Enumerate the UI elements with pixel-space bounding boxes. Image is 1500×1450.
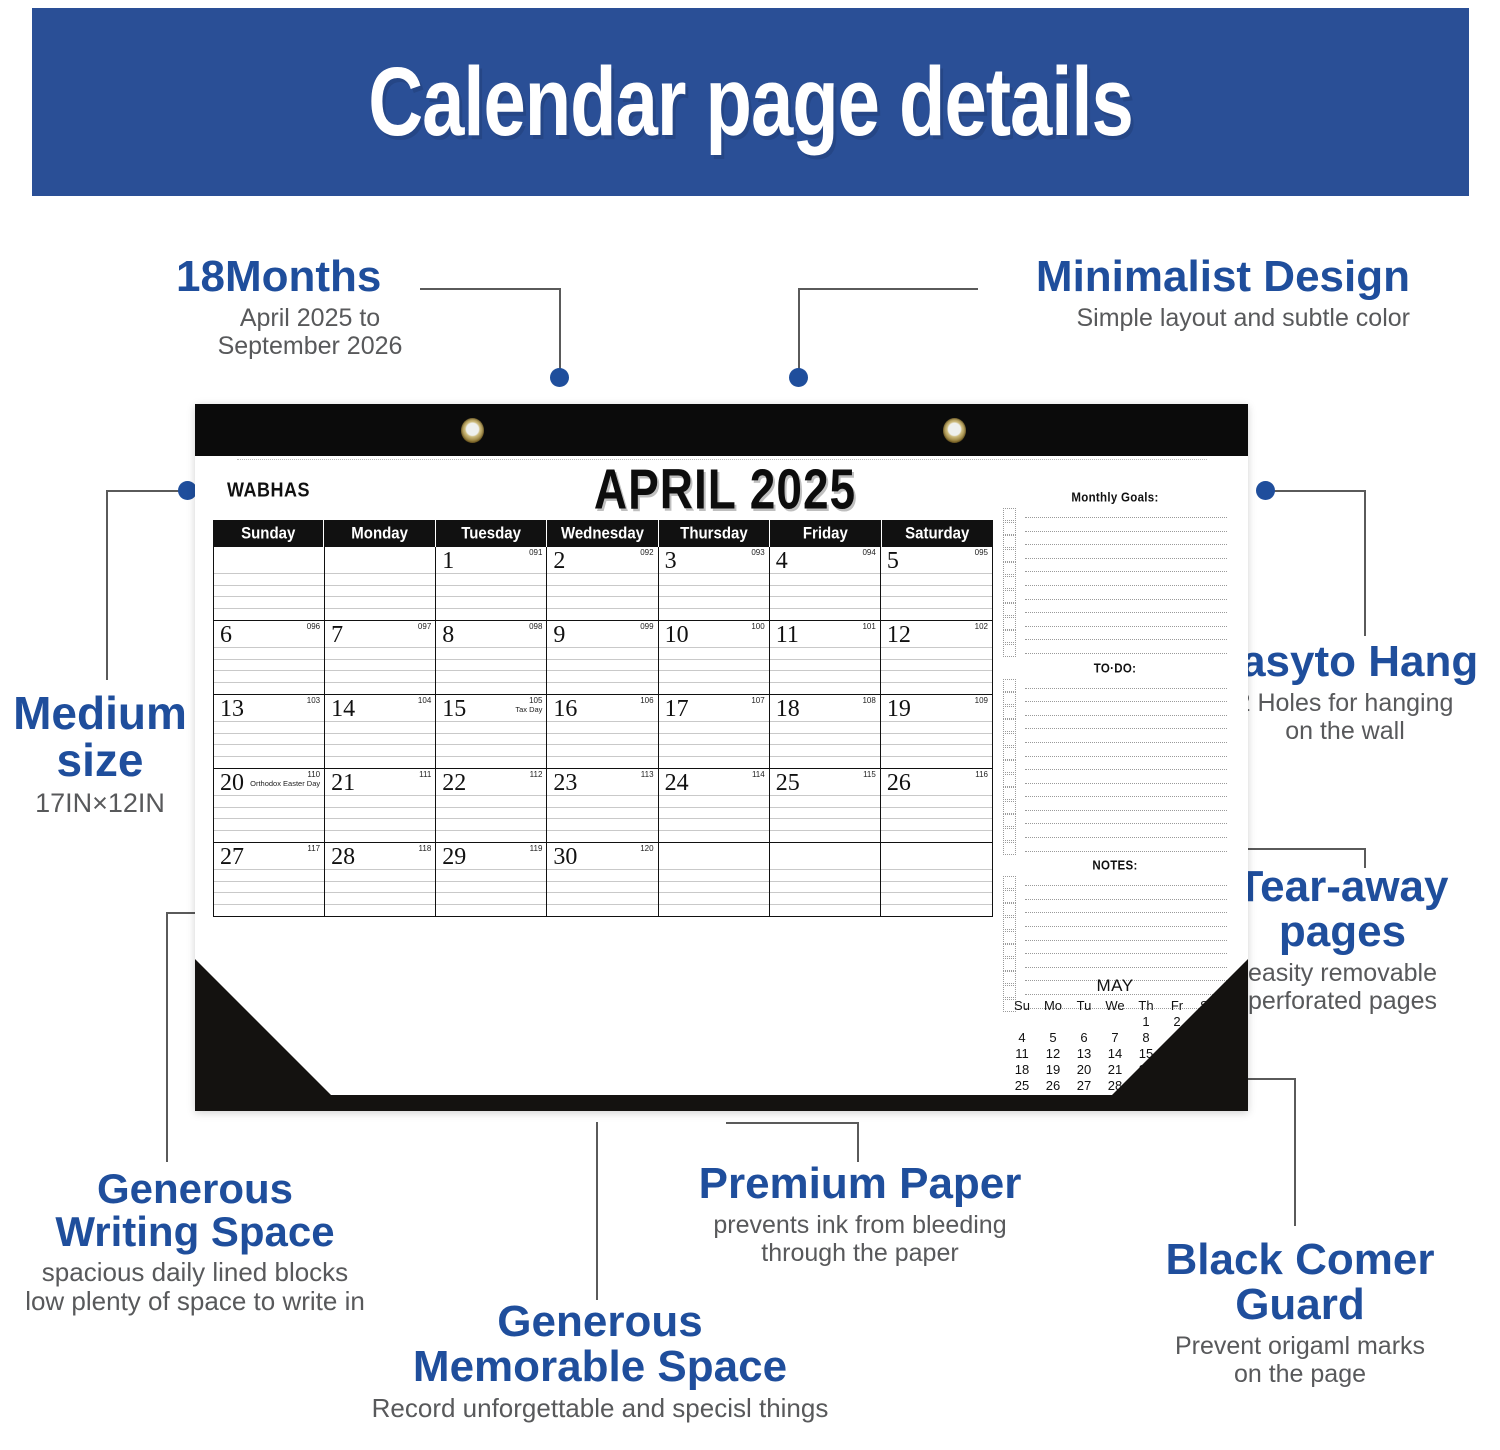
hanging-hole-icon [943, 418, 966, 443]
write-line[interactable] [999, 930, 1231, 944]
julian-day-number: 113 [641, 771, 654, 779]
calendar-week-row: 20110Orthodox Easter Day2111122112231132… [214, 769, 992, 843]
calendar-day-cell[interactable]: 22112 [436, 769, 547, 842]
mini-day-cell: 27 [1069, 1077, 1100, 1093]
writing-rules [325, 869, 435, 916]
calendar-day-cell[interactable]: 5095 [881, 547, 992, 620]
julian-day-number: 119 [530, 845, 543, 853]
julian-day-number: 105 [529, 697, 542, 705]
day-number: 2 [553, 549, 565, 573]
writing-rules [659, 721, 769, 768]
calendar-sheet: WABHAS APRIL 2025 Sunday Monday Tuesday … [195, 404, 1248, 1111]
julian-day-number: 104 [418, 697, 431, 705]
writing-rules [325, 573, 435, 620]
writing-rules [325, 721, 435, 768]
write-line[interactable] [999, 902, 1231, 916]
writing-rules [881, 795, 992, 842]
calendar-week-row: 6096709780989099101001110112102 [214, 621, 992, 695]
calendar-day-cell[interactable] [881, 843, 992, 916]
day-number: 21 [331, 771, 355, 795]
leader-line-premium-h [726, 1122, 858, 1124]
calendar-day-cell[interactable]: 4094 [770, 547, 881, 620]
writing-rules [547, 721, 657, 768]
julian-day-number: 108 [862, 697, 875, 705]
day-event-label: Orthodox Easter Day [250, 780, 320, 788]
mini-day-cell: 18 [1007, 1061, 1038, 1077]
day-number: 12 [887, 623, 911, 647]
writing-rules [214, 795, 324, 842]
write-line[interactable] [999, 841, 1231, 855]
julian-day-number: 112 [530, 771, 543, 779]
calendar-day-cell[interactable]: 23113 [547, 769, 658, 842]
writing-rules [770, 795, 880, 842]
monthly-goals-lines[interactable] [999, 507, 1231, 657]
corner-guard-left-icon [195, 959, 347, 1111]
write-line[interactable] [999, 916, 1231, 930]
calendar-day-cell[interactable]: 11101 [770, 621, 881, 694]
day-number: 9 [553, 623, 565, 647]
julian-day-number: 106 [640, 697, 653, 705]
julian-day-number: 099 [640, 623, 653, 631]
calendar-day-cell[interactable]: 6096 [214, 621, 325, 694]
monthly-goals-label: Monthly Goals: [999, 491, 1231, 504]
calendar-day-cell[interactable]: 29119 [436, 843, 547, 916]
calendar-day-cell[interactable]: 28118 [325, 843, 436, 916]
leader-line-months-h [420, 288, 560, 290]
weekday-header-cell: Wednesday [547, 519, 658, 549]
callout-title: Medium size [0, 690, 200, 784]
day-number: 5 [887, 549, 899, 573]
write-line[interactable] [999, 705, 1231, 719]
mini-weekday-cell: Mo [1038, 997, 1069, 1013]
day-number: 17 [665, 697, 689, 721]
julian-day-number: 096 [307, 623, 320, 631]
calendar-top-binding-bar [195, 404, 1248, 456]
write-line[interactable] [999, 800, 1231, 814]
day-number: 29 [442, 845, 466, 869]
page-title: Calendar page details [368, 46, 1133, 157]
calendar-day-cell[interactable]: 1091 [436, 547, 547, 620]
mini-day-cell: 25 [1007, 1077, 1038, 1093]
calendar-day-cell[interactable]: 30120 [547, 843, 658, 916]
write-line[interactable] [999, 773, 1231, 787]
leader-line-medium-v [106, 490, 108, 680]
writing-rules [325, 795, 435, 842]
weekday-header-cell: Friday [770, 519, 881, 549]
calendar-day-cell[interactable]: 2092 [547, 547, 658, 620]
mini-weekday-cell: Su [1007, 997, 1038, 1013]
mini-day-cell: 20 [1069, 1061, 1100, 1077]
callout-generous-memorable-space: Generous Memorable Space Record unforget… [300, 1300, 900, 1423]
writing-rules [770, 869, 880, 916]
writing-rules [547, 573, 657, 620]
writing-rules [547, 795, 657, 842]
day-number: 20 [220, 771, 244, 795]
writing-rules [214, 721, 324, 768]
julian-day-number: 101 [862, 623, 875, 631]
julian-day-number: 116 [975, 771, 988, 779]
writing-rules [214, 573, 324, 620]
callout-medium-size: Medium size 17IN×12IN [0, 690, 200, 819]
day-number: 15 [442, 697, 466, 721]
mini-day-cell [1038, 1013, 1069, 1029]
callout-title: Generous Writing Space [0, 1168, 394, 1254]
calendar-day-cell[interactable]: 26116 [881, 769, 992, 842]
leader-line-hang-v [1364, 490, 1366, 636]
day-number: 24 [665, 771, 689, 795]
weekday-header-cell: Saturday [882, 519, 993, 549]
julian-day-number: 120 [640, 845, 653, 853]
day-number: 11 [776, 623, 799, 647]
writing-rules [770, 573, 880, 620]
leader-dot-months [550, 368, 569, 387]
write-line[interactable] [999, 629, 1231, 643]
mini-day-cell: 12 [1038, 1045, 1069, 1061]
write-line[interactable] [999, 827, 1231, 841]
calendar-day-cell[interactable] [659, 843, 770, 916]
writing-rules [881, 647, 992, 694]
day-number: 3 [665, 549, 677, 573]
mini-day-cell: 11 [1007, 1045, 1038, 1061]
brand-label: WABHAS [227, 479, 310, 503]
calendar-bottom-bar [195, 1095, 1248, 1111]
day-number: 6 [220, 623, 232, 647]
leader-line-writing-v [166, 912, 168, 1162]
notes-label: NOTES: [999, 860, 1231, 873]
julian-day-number: 118 [419, 845, 432, 853]
julian-day-number: 093 [751, 549, 764, 557]
mini-day-cell: 5 [1038, 1029, 1069, 1045]
julian-day-number: 098 [529, 623, 542, 631]
day-number: 8 [442, 623, 454, 647]
day-number: 1 [442, 549, 454, 573]
callout-minimalist-design: Minimalist Design Simple layout and subt… [940, 255, 1410, 332]
calendar-day-cell[interactable]: 25115 [770, 769, 881, 842]
leader-line-months-v [559, 288, 561, 376]
mini-day-cell [1007, 1013, 1038, 1029]
write-line[interactable] [999, 943, 1231, 957]
callout-sub: Prevent origaml marks on the page [1105, 1332, 1495, 1389]
callout-title: Minimalist Design [940, 255, 1410, 300]
write-line[interactable] [999, 589, 1231, 603]
leader-line-premium-v [857, 1122, 859, 1162]
day-number: 23 [553, 771, 577, 795]
leader-line-corner-v [1294, 1078, 1296, 1226]
callout-title: Generous Memorable Space [300, 1300, 900, 1390]
calendar-day-cell[interactable]: 15105Tax Day [436, 695, 547, 768]
day-number: 30 [553, 845, 577, 869]
julian-day-number: 115 [863, 771, 876, 779]
calendar-day-cell[interactable]: 18108 [770, 695, 881, 768]
julian-day-number: 092 [640, 549, 653, 557]
writing-rules [881, 721, 992, 768]
julian-day-number: 097 [418, 623, 431, 631]
writing-rules [659, 869, 769, 916]
mini-day-cell: 19 [1038, 1061, 1069, 1077]
writing-rules [325, 647, 435, 694]
writing-rules [214, 647, 324, 694]
header-banner-inner: Calendar page details [32, 8, 1469, 196]
callout-generous-writing-space: Generous Writing Space spacious daily li… [0, 1168, 394, 1317]
write-line[interactable] [999, 759, 1231, 773]
month-title: APRIL 2025 [525, 456, 925, 522]
writing-rules [547, 869, 657, 916]
write-line[interactable] [999, 889, 1231, 903]
calendar-day-cell[interactable]: 8098 [436, 621, 547, 694]
calendar-day-cell[interactable]: 9099 [547, 621, 658, 694]
julian-day-number: 111 [419, 771, 431, 779]
callout-premium-paper: Premium Paper prevents ink from bleeding… [660, 1162, 1060, 1268]
day-number: 4 [776, 549, 788, 573]
calendar-day-cell[interactable]: 3093 [659, 547, 770, 620]
callout-sub: 17IN×12IN [0, 788, 200, 819]
calendar-sidebar: Monthly Goals: TO·DO: NOTES: [999, 492, 1231, 1011]
mini-day-cell: 26 [1038, 1077, 1069, 1093]
day-number: 22 [442, 771, 466, 795]
mini-day-cell: 6 [1069, 1029, 1100, 1045]
calendar-day-cell[interactable]: 21111 [325, 769, 436, 842]
callout-title: Black Comer Guard [1105, 1238, 1495, 1328]
write-line[interactable] [999, 507, 1231, 521]
write-line[interactable] [999, 548, 1231, 562]
calendar-day-cell[interactable]: 13103 [214, 695, 325, 768]
corner-guard-right-icon [1096, 959, 1248, 1111]
julian-day-number: 117 [307, 845, 320, 853]
callout-sub: April 2025 to September 2026 [176, 304, 426, 361]
calendar-week-row: 27117281182911930120 [214, 843, 992, 916]
leader-line-minimalist-v [798, 288, 800, 376]
write-line[interactable] [999, 732, 1231, 746]
mini-day-cell: 4 [1007, 1029, 1038, 1045]
mini-weekday-cell: Tu [1069, 997, 1100, 1013]
calendar-weeks: 1091209230934094509560967097809890991010… [213, 547, 993, 917]
day-number: 27 [220, 845, 244, 869]
julian-day-number: 110 [307, 771, 320, 779]
day-event-label: Tax Day [515, 706, 542, 714]
write-line[interactable] [999, 521, 1231, 535]
writing-rules [436, 869, 546, 916]
day-number: 26 [887, 771, 911, 795]
weekday-header-cell: Tuesday [436, 519, 547, 549]
writing-rules [659, 573, 769, 620]
writing-rules [436, 647, 546, 694]
julian-day-number: 103 [307, 697, 320, 705]
writing-rules [436, 795, 546, 842]
leader-dot-minimalist [789, 368, 808, 387]
leader-dot-hang [1256, 481, 1275, 500]
writing-rules [436, 721, 546, 768]
todo-label: TO·DO: [999, 662, 1231, 675]
write-line[interactable] [999, 813, 1231, 827]
julian-day-number: 114 [752, 771, 765, 779]
callout-title: Premium Paper [660, 1162, 1060, 1207]
day-number: 7 [331, 623, 343, 647]
calendar-day-cell[interactable]: 20110Orthodox Easter Day [214, 769, 325, 842]
day-number: 18 [776, 697, 800, 721]
weekday-header-cell: Thursday [659, 519, 770, 549]
mini-day-cell: 13 [1069, 1045, 1100, 1061]
callout-sub: prevents ink from bleeding through the p… [660, 1211, 1060, 1268]
calendar-grid: Sunday Monday Tuesday Wednesday Thursday… [213, 520, 993, 917]
calendar-day-cell[interactable]: 17107 [659, 695, 770, 768]
callout-18months: 18Months April 2025 to September 2026 [176, 255, 426, 361]
writing-rules [436, 573, 546, 620]
calendar-day-cell[interactable]: 24114 [659, 769, 770, 842]
calendar-day-cell[interactable]: 14104 [325, 695, 436, 768]
writing-rules [659, 647, 769, 694]
day-number: 19 [887, 697, 911, 721]
header-banner: Calendar page details [32, 8, 1469, 196]
calendar-day-cell[interactable]: 16106 [547, 695, 658, 768]
write-line[interactable] [999, 561, 1231, 575]
julian-day-number: 095 [975, 549, 988, 557]
callout-title: 18Months [176, 255, 426, 300]
leader-line-memorable-v [596, 1122, 598, 1300]
calendar-day-cell[interactable] [325, 547, 436, 620]
day-number: 28 [331, 845, 355, 869]
calendar-day-cell[interactable]: 7097 [325, 621, 436, 694]
write-line[interactable] [999, 602, 1231, 616]
weekday-header-cell: Sunday [213, 519, 324, 549]
day-number: 14 [331, 697, 355, 721]
writing-rules [881, 573, 992, 620]
calendar-week-row: 131031410415105Tax Day161061710718108191… [214, 695, 992, 769]
callout-sub: Record unforgettable and specisl things [300, 1394, 900, 1424]
calendar-day-cell[interactable]: 27117 [214, 843, 325, 916]
todo-lines[interactable] [999, 678, 1231, 855]
callout-black-corner-guard: Black Comer Guard Prevent origaml marks … [1105, 1238, 1495, 1389]
write-line[interactable] [999, 875, 1231, 889]
calendar-day-cell[interactable] [770, 843, 881, 916]
julian-day-number: 100 [751, 623, 764, 631]
julian-day-number: 094 [862, 549, 875, 557]
writing-rules [214, 869, 324, 916]
write-line[interactable] [999, 786, 1231, 800]
write-line[interactable] [999, 691, 1231, 705]
leader-line-hang-h [1265, 490, 1365, 492]
write-line[interactable] [999, 718, 1231, 732]
day-number: 16 [553, 697, 577, 721]
mini-day-cell [1069, 1013, 1100, 1029]
weekday-header-row: Sunday Monday Tuesday Wednesday Thursday… [213, 520, 993, 547]
calendar-day-cell[interactable]: 10100 [659, 621, 770, 694]
calendar-day-cell[interactable] [214, 547, 325, 620]
write-line[interactable] [999, 616, 1231, 630]
julian-day-number: 091 [529, 549, 542, 557]
calendar-day-cell[interactable]: 12102 [881, 621, 992, 694]
write-line[interactable] [999, 746, 1231, 760]
julian-day-number: 109 [975, 697, 988, 705]
writing-rules [547, 647, 657, 694]
weekday-header-cell: Monday [324, 519, 435, 549]
writing-rules [770, 647, 880, 694]
day-number: 10 [665, 623, 689, 647]
writing-rules [881, 869, 992, 916]
calendar-day-cell[interactable]: 19109 [881, 695, 992, 768]
day-number: 25 [776, 771, 800, 795]
callout-sub: Simple layout and subtle color [940, 304, 1410, 333]
julian-day-number: 102 [975, 623, 988, 631]
write-line[interactable] [999, 643, 1231, 657]
writing-rules [770, 721, 880, 768]
write-line[interactable] [999, 678, 1231, 692]
julian-day-number: 107 [751, 697, 764, 705]
writing-rules [659, 795, 769, 842]
write-line[interactable] [999, 575, 1231, 589]
write-line[interactable] [999, 534, 1231, 548]
day-number: 13 [220, 697, 244, 721]
calendar-week-row: 10912092309340945095 [214, 547, 992, 621]
hanging-hole-icon [461, 418, 484, 443]
